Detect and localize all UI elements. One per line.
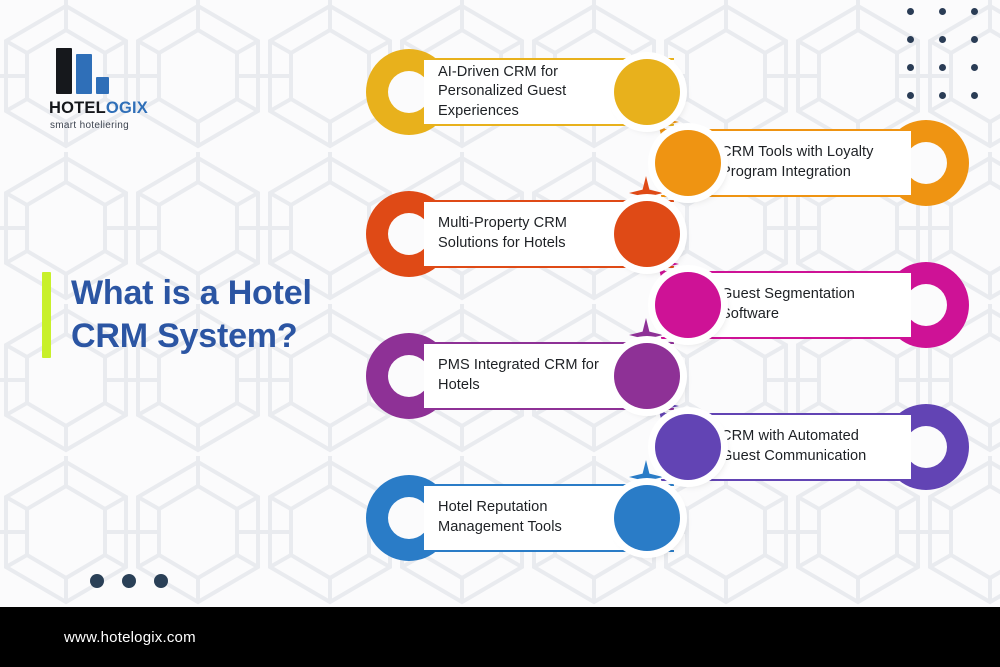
list-item[interactable]: Hotel Reputation Management Tools	[366, 475, 674, 561]
item-bullet-circle	[655, 130, 721, 196]
item-bullet-circle	[614, 201, 680, 267]
infographic-canvas: HOTELOGIX smart hoteliering What is a Ho…	[0, 0, 1000, 667]
arc-accent-icon	[366, 475, 424, 561]
item-label: CRM with Automated Guest Communication	[721, 427, 897, 466]
item-label: AI-Driven CRM for Personalized Guest Exp…	[438, 63, 614, 122]
list-item[interactable]: AI-Driven CRM for Personalized Guest Exp…	[366, 49, 674, 135]
list-item[interactable]: CRM Tools with Loyalty Program Integrati…	[661, 120, 969, 206]
item-bullet-circle	[614, 343, 680, 409]
list-item[interactable]: Multi-Property CRM Solutions for Hotels	[366, 191, 674, 277]
list-item[interactable]: CRM with Automated Guest Communication	[661, 404, 969, 490]
item-bullet-circle	[655, 272, 721, 338]
list-item[interactable]: PMS Integrated CRM for Hotels	[366, 333, 674, 419]
item-label: Guest Segmentation Software	[721, 285, 897, 324]
item-label: CRM Tools with Loyalty Program Integrati…	[721, 143, 897, 182]
item-label: Hotel Reputation Management Tools	[438, 498, 614, 537]
footer-website-url: www.hotelogix.com	[64, 629, 196, 646]
list-item[interactable]: Guest Segmentation Software	[661, 262, 969, 348]
item-label: PMS Integrated CRM for Hotels	[438, 356, 614, 395]
item-bullet-circle	[614, 59, 680, 125]
arc-accent-icon	[911, 262, 969, 348]
arc-accent-icon	[911, 404, 969, 490]
arc-accent-icon	[366, 191, 424, 277]
arc-accent-icon	[911, 120, 969, 206]
arc-accent-icon	[366, 333, 424, 419]
arc-accent-icon	[366, 49, 424, 135]
item-bullet-circle	[614, 485, 680, 551]
footer-bar: www.hotelogix.com	[0, 607, 1000, 667]
item-bullet-circle	[655, 414, 721, 480]
item-label: Multi-Property CRM Solutions for Hotels	[438, 214, 614, 253]
item-list: AI-Driven CRM for Personalized Guest Exp…	[0, 0, 1000, 607]
